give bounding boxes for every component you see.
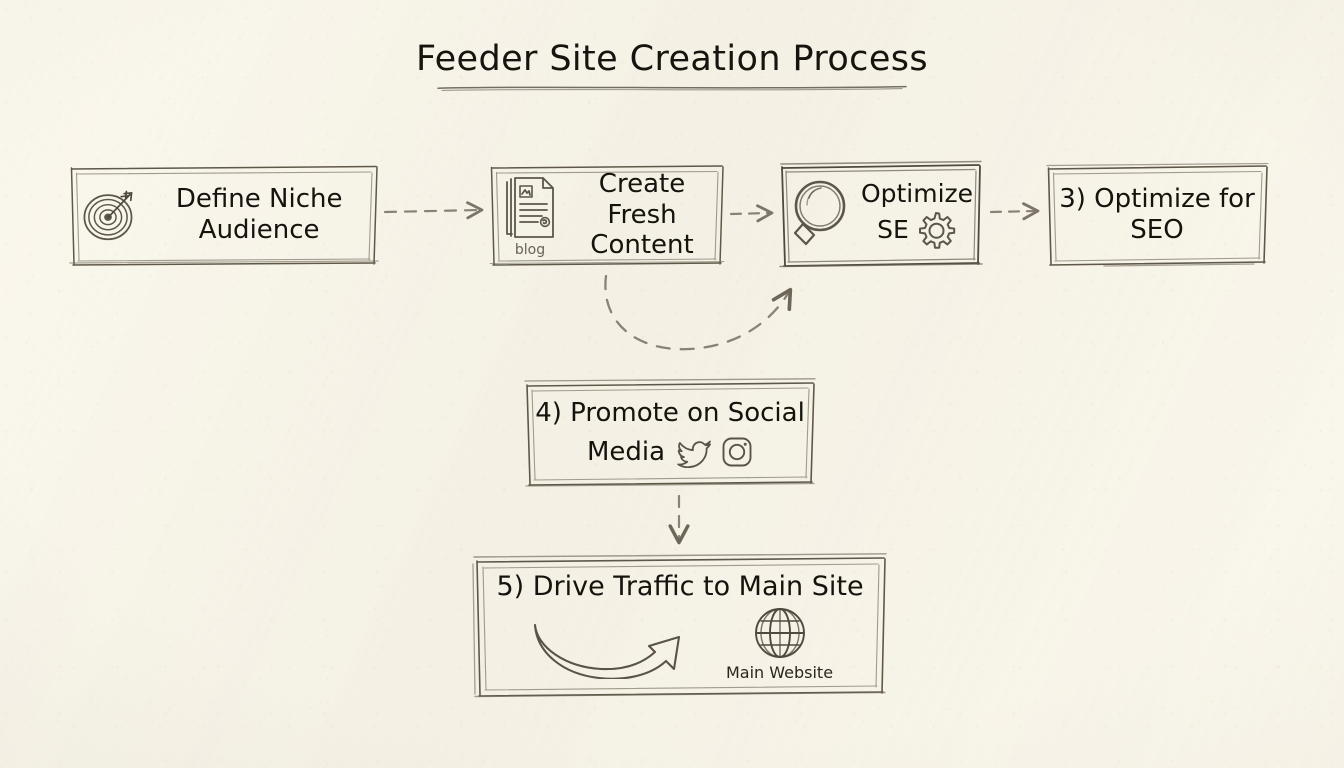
node-content: 4) Promote on Social Media <box>522 398 818 469</box>
instagram-icon <box>721 436 753 468</box>
blog-icon-caption: blog <box>515 242 545 258</box>
node-label-line1: 4) Promote on Social <box>534 398 806 429</box>
node-label: 3) Optimize for SEO <box>1056 184 1258 245</box>
node-label-line2: Media <box>587 437 665 468</box>
drive-traffic-icon-row: Main Website <box>480 605 880 682</box>
node-content: Define Niche Audience <box>68 174 380 256</box>
page-title: Feeder Site Creation Process <box>416 40 928 79</box>
node-define-niche-audience[interactable]: Define Niche Audience <box>68 163 380 267</box>
blog-document-icon <box>500 172 560 244</box>
node-content: blog Create Fresh Content <box>488 169 726 261</box>
node-label: 5) Drive Traffic to Main Site <box>496 571 863 603</box>
blog-icon-group: blog <box>500 172 560 258</box>
node-label-line2: SE <box>877 215 909 245</box>
node-label: Optimize SE <box>861 179 973 251</box>
node-content: 3) Optimize for SEO <box>1044 184 1270 245</box>
title-underline-sketch <box>432 83 912 93</box>
node-promote-on-social-media[interactable]: 4) Promote on Social Media <box>522 378 818 488</box>
node-label: Define Niche Audience <box>150 184 368 245</box>
node-optimize-for-seo[interactable]: 3) Optimize for SEO <box>1044 163 1270 267</box>
node-content: 5) Drive Traffic to Main Site <box>470 563 890 688</box>
node-create-fresh-content[interactable]: blog Create Fresh Content <box>488 163 726 267</box>
node-drive-traffic-to-main-site[interactable]: 5) Drive Traffic to Main Site <box>470 553 890 698</box>
node-label-line1: Optimize <box>861 179 973 209</box>
node-content: Optimize SE <box>777 174 985 256</box>
main-website-group: Main Website <box>726 605 833 682</box>
globe-icon <box>752 605 808 661</box>
title-block: Feeder Site Creation Process <box>0 40 1344 93</box>
main-website-caption: Main Website <box>726 663 833 682</box>
node-label: Create Fresh Content <box>570 169 714 261</box>
node-optimize-se[interactable]: Optimize SE <box>777 160 985 270</box>
curved-arrow-icon <box>527 607 692 679</box>
social-icon-group <box>677 436 753 468</box>
node-label: 4) Promote on Social Media <box>534 398 806 469</box>
magnifier-icon <box>789 174 857 256</box>
target-icon <box>80 174 140 256</box>
twitter-bird-icon <box>677 436 713 468</box>
gear-icon <box>915 209 957 251</box>
